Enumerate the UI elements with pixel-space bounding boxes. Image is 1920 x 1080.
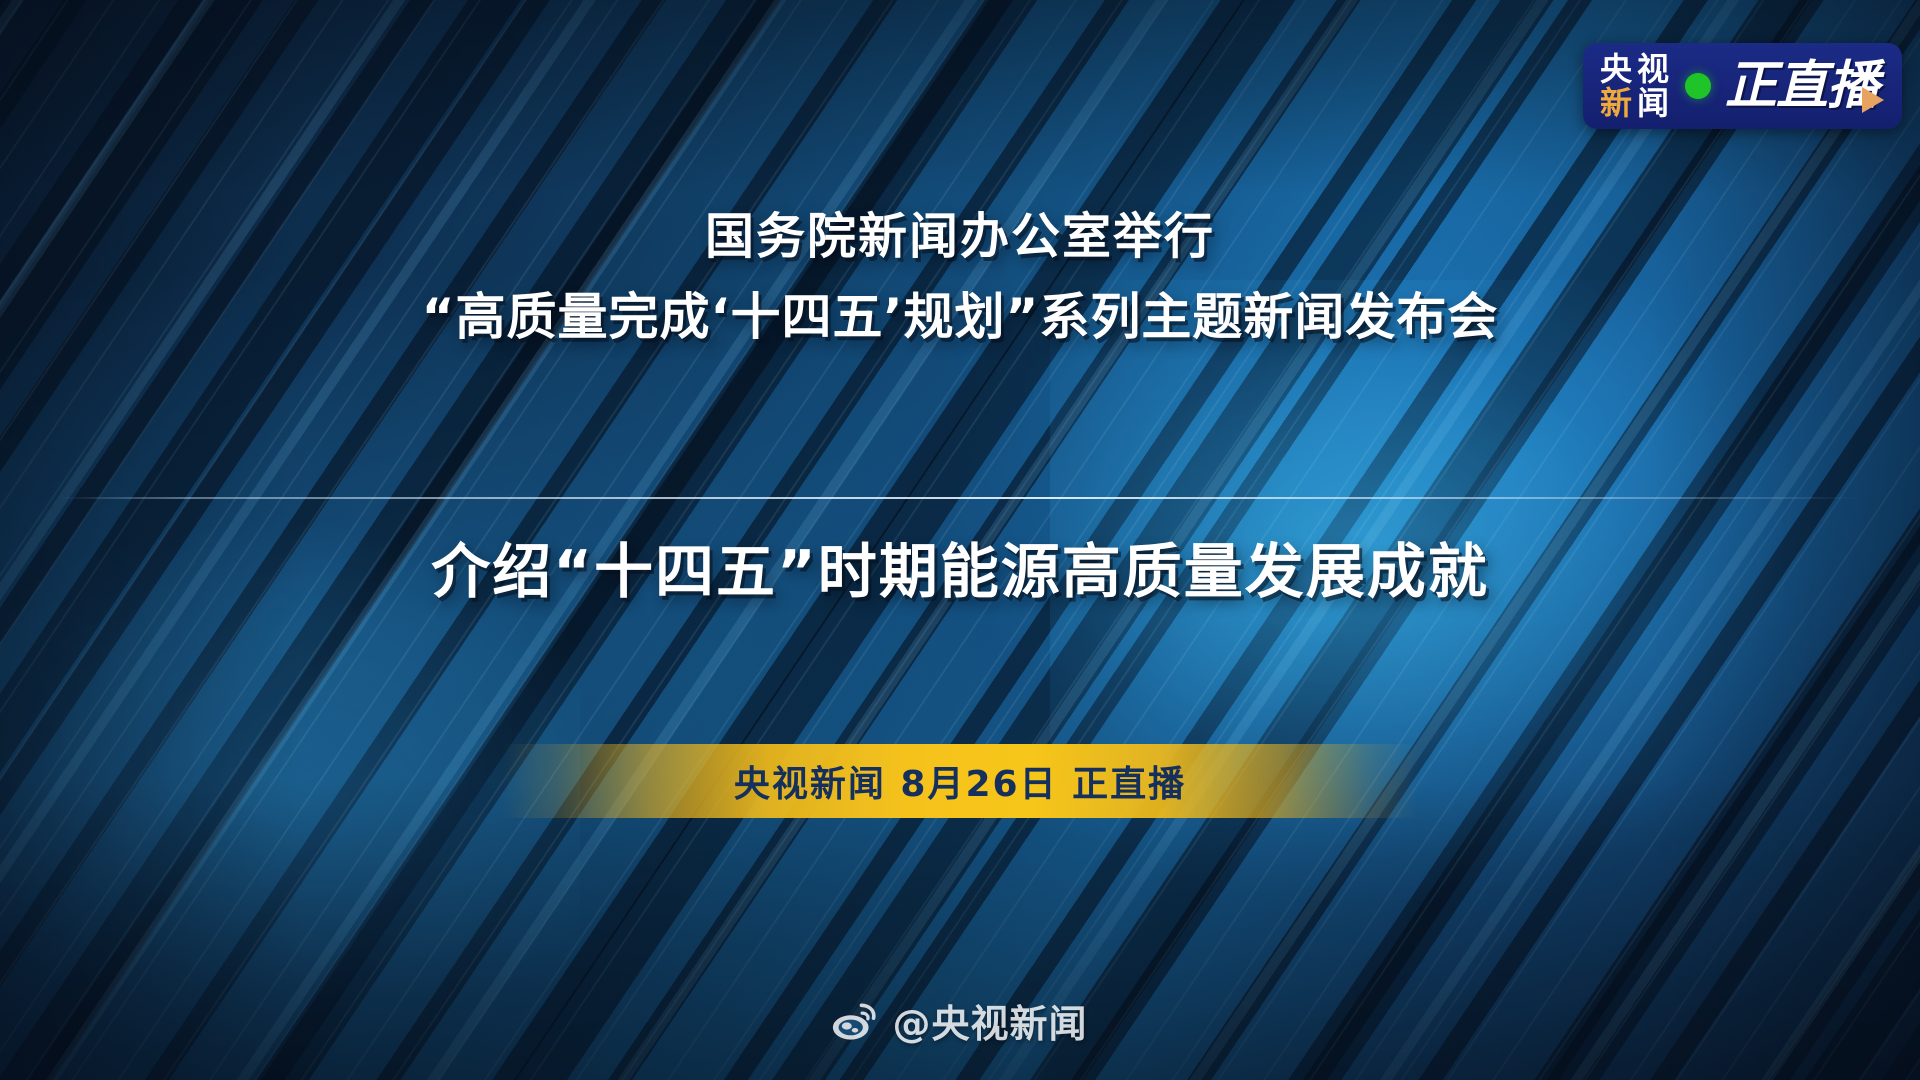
live-status-label: 正直播 — [1725, 60, 1882, 112]
live-status-text: 正直播 — [1725, 56, 1878, 116]
headline-block: 国务院新闻办公室举行 “高质量完成‘十四五’规划”系列主题新闻发布会 — [0, 208, 1920, 346]
play-triangle-icon — [1862, 87, 1884, 113]
date-ribbon: 央视新闻 8月26日 正直播 — [502, 744, 1418, 818]
weibo-watermark: @央视新闻 — [0, 993, 1920, 1048]
headline-line-1: 国务院新闻办公室举行 — [0, 208, 1920, 266]
live-broadcast-badge[interactable]: 央 视 新 闻 正直播 — [1583, 43, 1902, 129]
weibo-handle: @央视新闻 — [892, 993, 1087, 1048]
cctv-char-xin: 新 — [1600, 87, 1632, 119]
weibo-icon — [832, 1001, 878, 1041]
broadcast-title-card: 央 视 新 闻 正直播 国务院新闻办公室举行 “高质量完成‘十四五’规划”系列主… — [0, 0, 1920, 1080]
live-status-dot-icon — [1685, 73, 1711, 99]
cctv-char-yang: 央 — [1600, 53, 1632, 85]
date-ribbon-text: 央视新闻 8月26日 正直播 — [734, 755, 1186, 807]
headline-divider — [60, 497, 1860, 499]
cctv-char-shi: 视 — [1637, 53, 1669, 85]
headline-line-3: 介绍“十四五”时期能源高质量发展成就 — [0, 538, 1920, 606]
cctv-news-wordmark: 央 视 新 闻 — [1600, 53, 1669, 119]
subhead-block: 介绍“十四五”时期能源高质量发展成就 — [0, 538, 1920, 606]
cctv-char-wen: 闻 — [1637, 87, 1669, 119]
headline-line-2: “高质量完成‘十四五’规划”系列主题新闻发布会 — [0, 288, 1920, 346]
